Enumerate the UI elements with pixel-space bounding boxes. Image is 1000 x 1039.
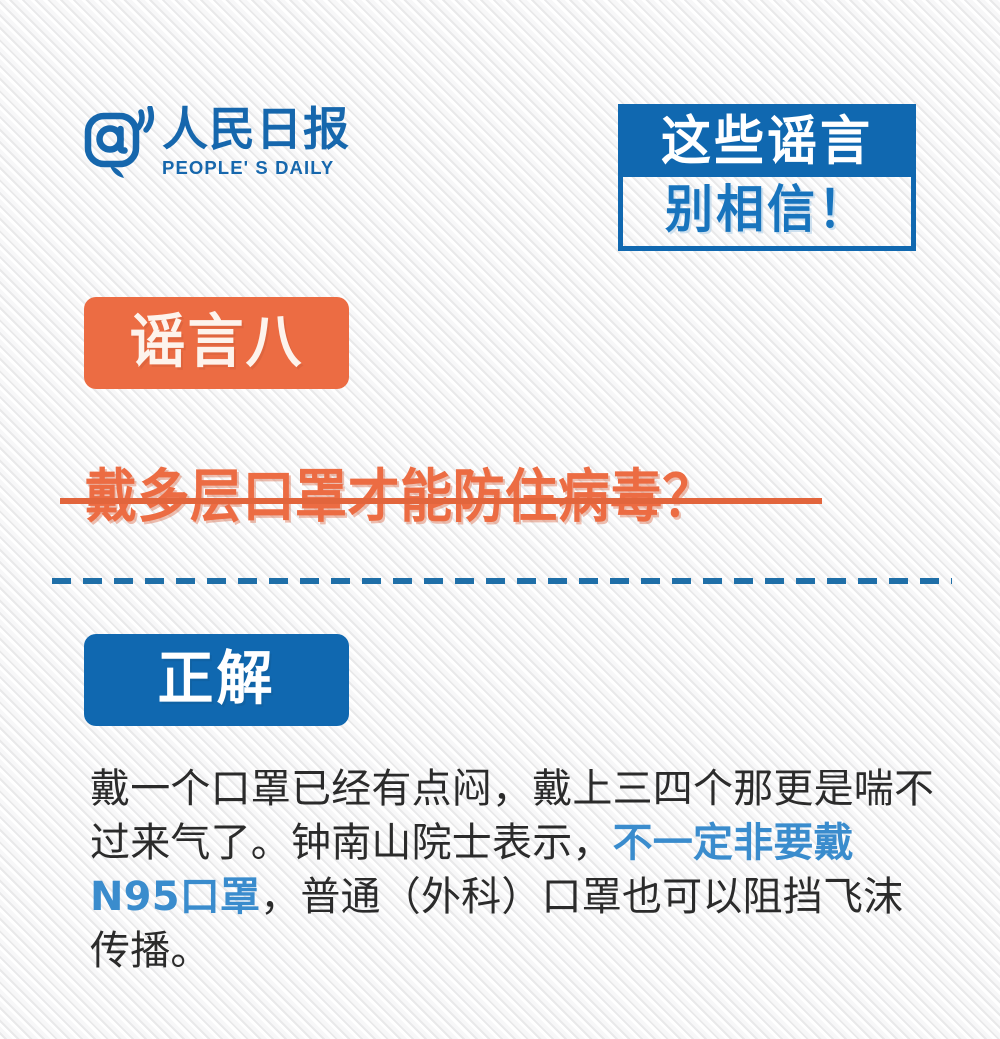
rumor-badge-label: 谣言八	[130, 314, 304, 372]
rumor-number-badge: 谣言八	[84, 297, 349, 389]
banner-bottom-row: 别相信！	[623, 177, 911, 246]
dashed-divider	[52, 578, 952, 584]
logo-wordmark: 人民日报 PEOPLE' S DAILY	[162, 104, 350, 178]
logo-chinese-name: 人民日报	[162, 104, 350, 154]
logo-english-name: PEOPLE' S DAILY	[162, 159, 350, 178]
headline-banner: 这些谣言 别相信！	[618, 104, 916, 251]
correct-answer-badge: 正解	[84, 634, 349, 726]
rumor-headline: 戴多层口罩才能防住病毒？	[60, 460, 920, 540]
body-paragraph: 戴一个口罩已经有点闷，戴上三四个那更是喘不过来气了。钟南山院士表示，不一定非要戴…	[90, 762, 940, 978]
poster-canvas: 人民日报 PEOPLE' S DAILY 这些谣言 别相信！ 谣言八 戴多层口罩…	[0, 0, 1000, 1039]
banner-top-row: 这些谣言	[623, 109, 911, 177]
correct-badge-label: 正解	[158, 651, 276, 709]
peoples-daily-logo: 人民日报 PEOPLE' S DAILY	[84, 104, 350, 182]
strikethrough-line	[60, 498, 822, 504]
banner-line-1: 这些谣言	[661, 115, 873, 168]
banner-line-2: 别相信！	[665, 185, 869, 236]
at-sign-wifi-logo-icon	[84, 106, 158, 182]
